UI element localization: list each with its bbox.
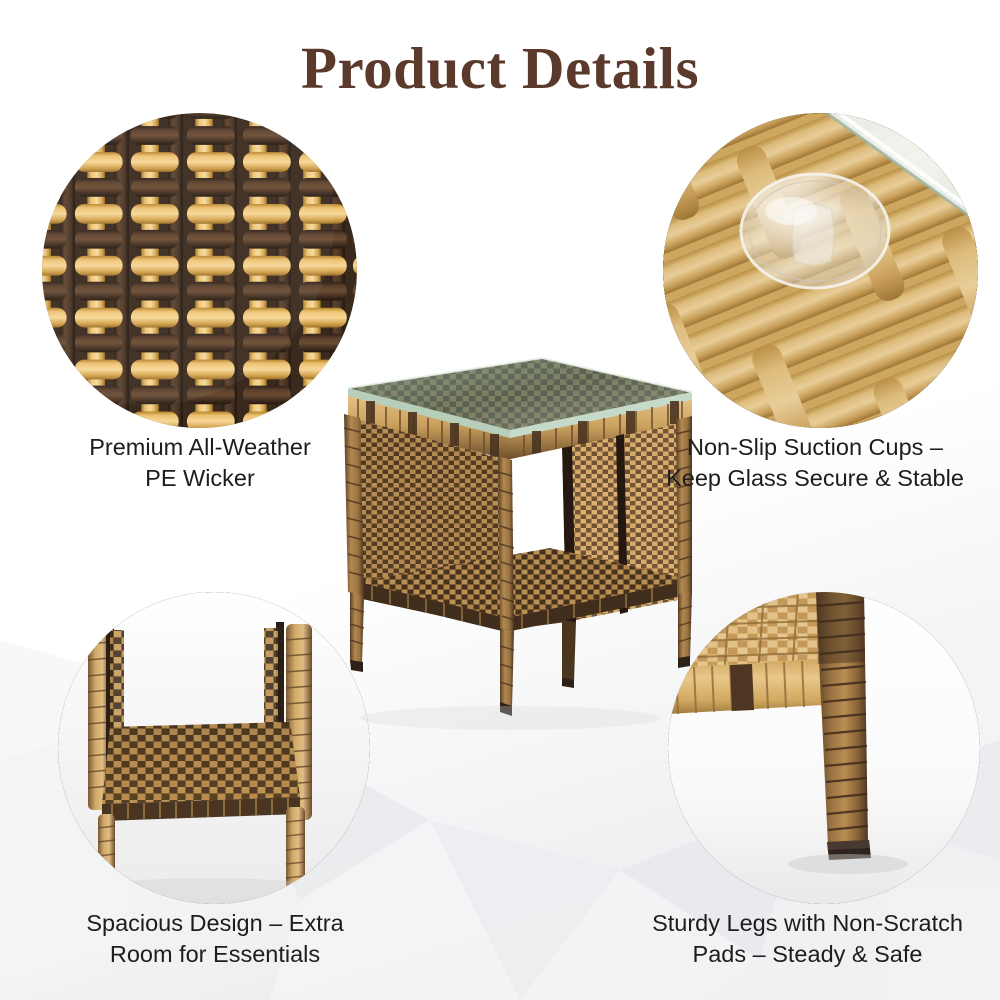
feature-image-suction-cups (663, 113, 978, 428)
table-leg-photo (668, 592, 980, 904)
caption-line-2: PE Wicker (20, 463, 380, 494)
caption-line-1: Sturdy Legs with Non-Scratch (615, 908, 1000, 939)
rattan-side-table-illustration (300, 330, 700, 750)
caption-line-1: Premium All-Weather (20, 432, 380, 463)
caption-line-2: Room for Essentials (40, 939, 390, 970)
caption-line-1: Spacious Design – Extra (40, 908, 390, 939)
caption-suction-cups: Non-Slip Suction Cups – Keep Glass Secur… (630, 432, 1000, 494)
product-photo-rattan-side-table (300, 330, 700, 750)
caption-line-2: Pads – Steady & Safe (615, 939, 1000, 970)
feature-image-sturdy-legs (668, 592, 980, 904)
suction-cup-photo (663, 113, 978, 428)
caption-sturdy-legs: Sturdy Legs with Non-Scratch Pads – Stea… (615, 908, 1000, 970)
caption-premium-wicker: Premium All-Weather PE Wicker (20, 432, 380, 494)
suction-cup (741, 174, 889, 288)
page-title: Product Details (0, 34, 1000, 103)
caption-spacious-shelf: Spacious Design – Extra Room for Essenti… (40, 908, 390, 970)
infographic-canvas: Product Details (0, 0, 1000, 1000)
caption-line-1: Non-Slip Suction Cups – (630, 432, 1000, 463)
caption-line-2: Keep Glass Secure & Stable (630, 463, 1000, 494)
